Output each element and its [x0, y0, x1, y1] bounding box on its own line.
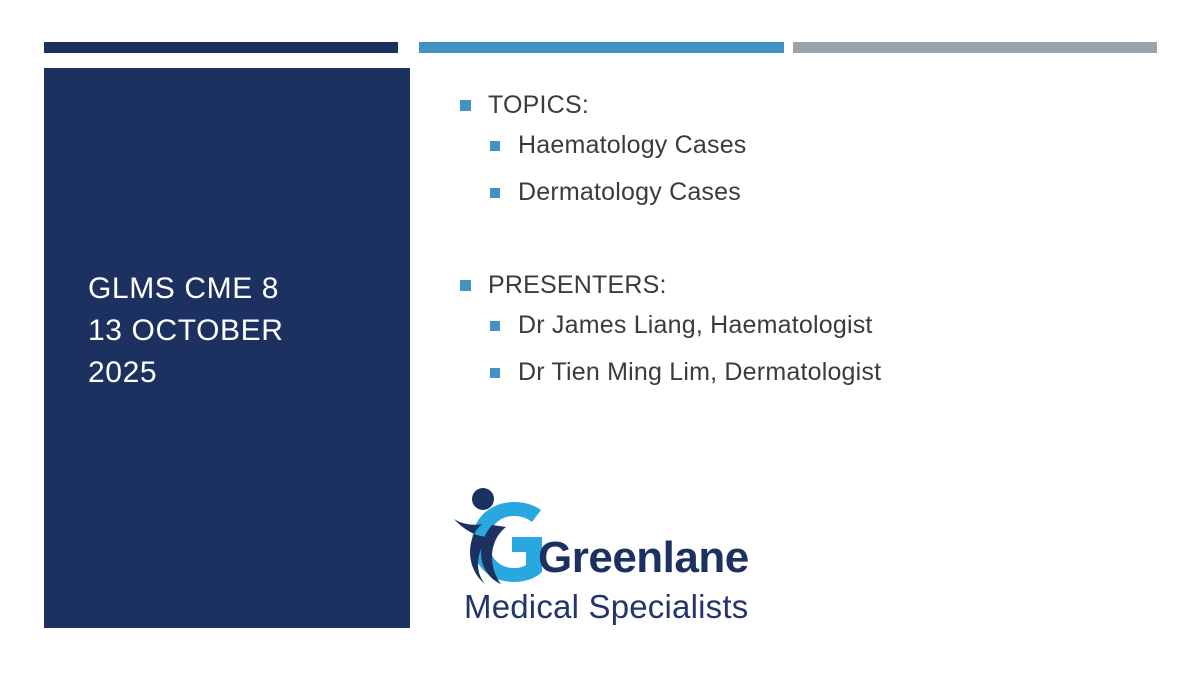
decor-bar-blue: [419, 42, 784, 53]
topic-item-label: Dermatology Cases: [518, 175, 741, 209]
content-body: TOPICS: Haematology Cases Dermatology Ca…: [452, 88, 1152, 402]
topics-heading-label: TOPICS:: [488, 88, 589, 122]
topic-item-dermatology: Dermatology Cases: [452, 175, 1152, 209]
topics-heading: TOPICS:: [452, 88, 1152, 122]
square-bullet-icon: [490, 141, 500, 151]
greenlane-logo: Greenlane Medical Specialists: [452, 485, 772, 630]
logo-tagline: Medical Specialists: [464, 589, 748, 625]
title-line-2: 13 OCTOBER: [88, 310, 388, 352]
presenters-heading: PRESENTERS:: [452, 268, 1152, 302]
topic-item-haematology: Haematology Cases: [452, 128, 1152, 162]
presentation-slide: GLMS CME 8 13 OCTOBER 2025 TOPICS: Haema…: [0, 0, 1200, 675]
presenter-item-label: Dr Tien Ming Lim, Dermatologist: [518, 355, 881, 389]
square-bullet-icon: [490, 188, 500, 198]
square-bullet-icon: [460, 280, 471, 291]
title-line-1: GLMS CME 8: [88, 268, 388, 310]
presenter-item-liang: Dr James Liang, Haematologist: [452, 308, 1152, 342]
square-bullet-icon: [490, 321, 500, 331]
decor-bar-navy: [44, 42, 398, 53]
logo-wordmark: Greenlane: [538, 535, 749, 581]
decor-bar-gray: [793, 42, 1157, 53]
title-panel: GLMS CME 8 13 OCTOBER 2025: [44, 68, 410, 628]
page-title: GLMS CME 8 13 OCTOBER 2025: [88, 268, 388, 394]
topic-item-label: Haematology Cases: [518, 128, 747, 162]
square-bullet-icon: [490, 368, 500, 378]
presenter-item-label: Dr James Liang, Haematologist: [518, 308, 873, 342]
presenters-heading-label: PRESENTERS:: [488, 268, 667, 302]
section-spacer: [452, 222, 1152, 268]
title-line-3: 2025: [88, 352, 388, 394]
square-bullet-icon: [460, 100, 471, 111]
presenter-item-lim: Dr Tien Ming Lim, Dermatologist: [452, 355, 1152, 389]
